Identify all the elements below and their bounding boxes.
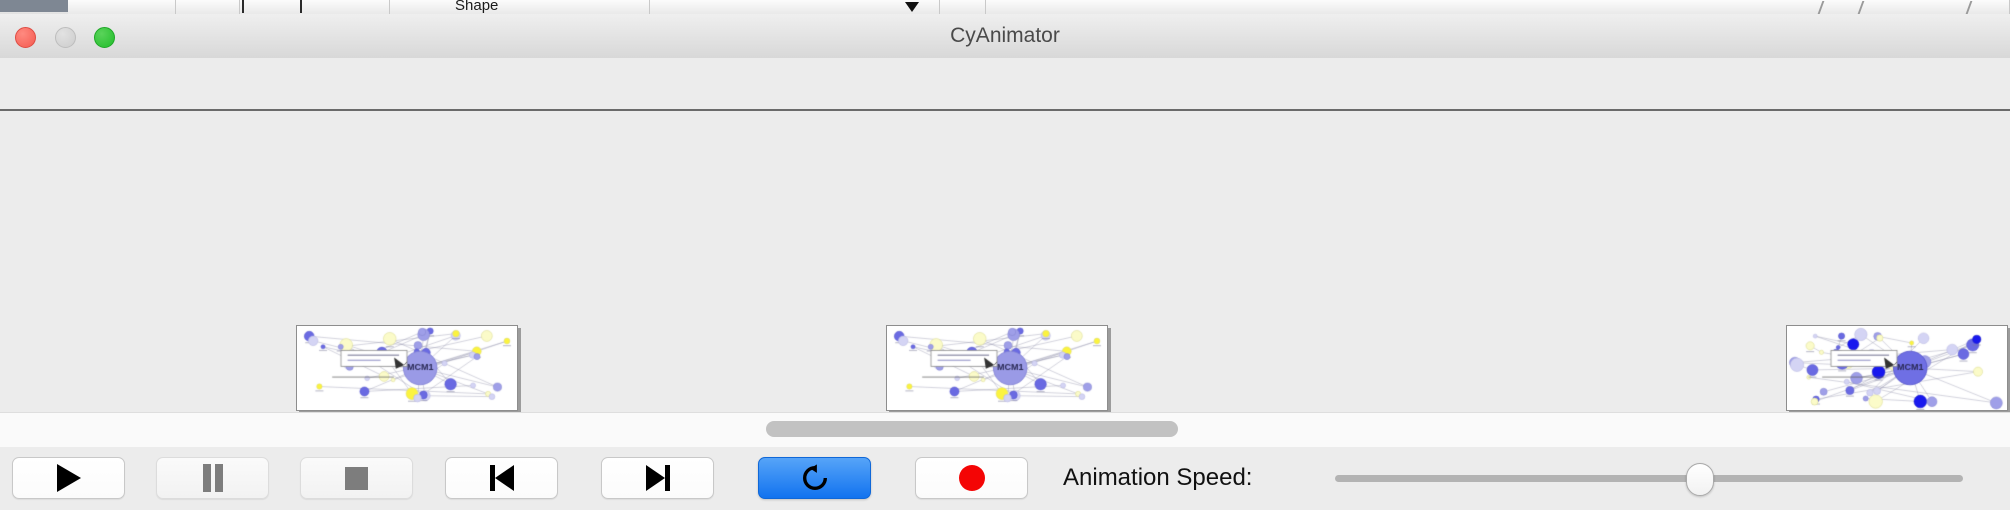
frame-thumbnail[interactable] [886, 325, 1108, 411]
record-button[interactable] [915, 457, 1028, 499]
slider-track [1335, 475, 1963, 482]
next-frame-button[interactable] [601, 457, 714, 499]
toolbar: Clear All Frames [0, 58, 2010, 110]
timeline-scrollbar-thumb[interactable] [766, 421, 1178, 437]
skip-back-icon [490, 465, 514, 491]
animation-speed-label: Animation Speed: [1063, 457, 1252, 499]
background-toolbar-chunk [68, 0, 176, 14]
animation-speed-slider[interactable] [1335, 475, 1963, 482]
prev-frame-button[interactable] [445, 457, 558, 499]
background-toolbar-chunk [240, 0, 390, 14]
background-toolbar-chunk [390, 0, 650, 14]
background-toolbar-chunk [940, 0, 986, 14]
stop-icon [345, 467, 368, 490]
loop-icon [800, 463, 830, 493]
timeline-panel[interactable]: 12131415161718 Seconds [0, 112, 2010, 412]
background-toolbar-chunk [176, 0, 240, 14]
pause-icon [202, 464, 224, 492]
stop-button[interactable] [300, 457, 413, 499]
play-button[interactable] [12, 457, 125, 499]
background-window-strip: Shape [0, 0, 2010, 14]
window-title: CyAnimator [0, 14, 2010, 58]
timeline-scrollbar-track[interactable] [0, 412, 2010, 448]
playback-control-bar: Animation Speed: [0, 447, 2010, 510]
pause-button[interactable] [156, 457, 269, 499]
slider-thumb[interactable] [1686, 463, 1714, 496]
loop-button[interactable] [758, 457, 871, 499]
title-bar[interactable]: CyAnimator [0, 14, 2010, 59]
toolbar-divider [0, 109, 2010, 111]
background-window-label: Shape [455, 0, 498, 14]
play-icon [57, 464, 81, 492]
background-toolbar-chunk [650, 0, 940, 14]
frame-thumbnail[interactable] [1786, 325, 2008, 411]
cyanimator-window: Shape CyAnimator Clear All Frames [0, 0, 2010, 510]
frame-thumbnail[interactable] [296, 325, 518, 411]
record-icon [959, 465, 985, 491]
background-toolbar-chunk [986, 0, 2010, 14]
skip-forward-icon [646, 465, 670, 491]
background-sidebar-fragment [0, 0, 68, 12]
